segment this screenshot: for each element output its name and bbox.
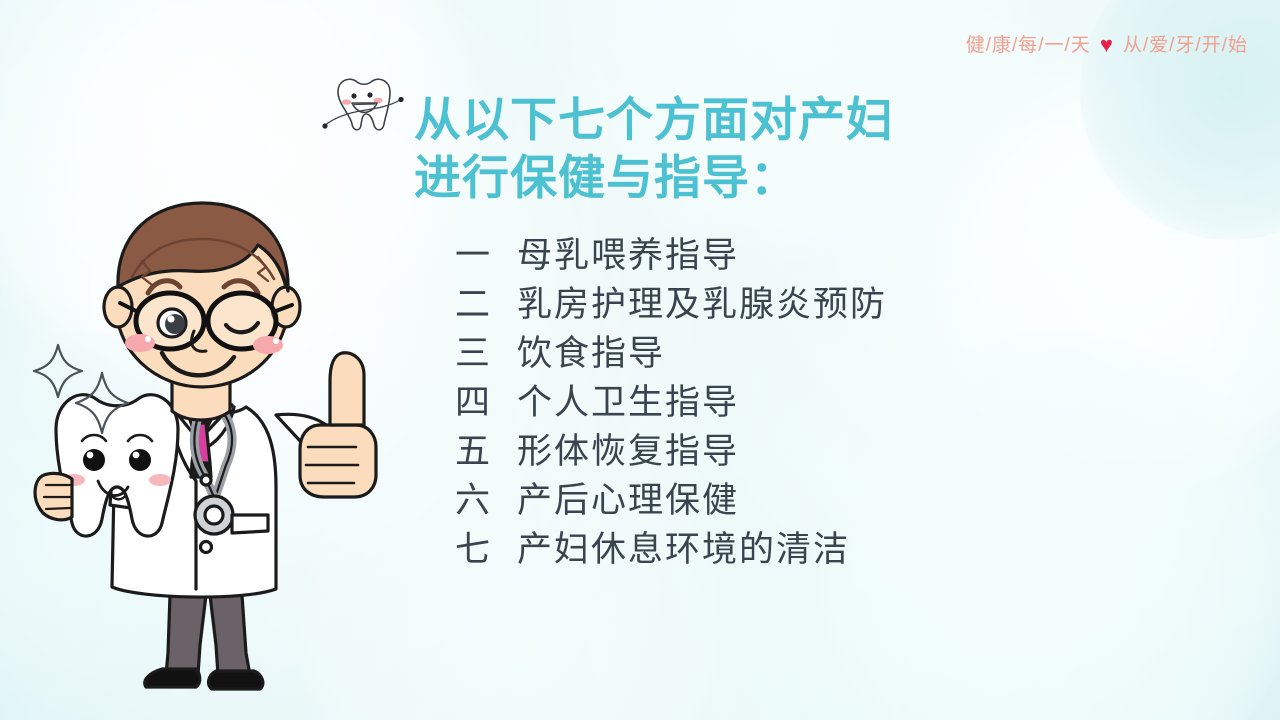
dentist-illustration <box>20 175 400 695</box>
list-item: 二 乳房护理及乳腺炎预防 <box>455 281 887 330</box>
list-item-number: 四 <box>455 379 517 428</box>
list-item-label: 母乳喂养指导 <box>517 232 739 281</box>
mini-tooth-icon <box>316 70 412 150</box>
list-item-label: 乳房护理及乳腺炎预防 <box>517 281 887 330</box>
list-item: 五 形体恢复指导 <box>455 428 887 477</box>
list-item: 三 饮食指导 <box>455 330 887 379</box>
list-item: 六 产后心理保健 <box>455 477 887 526</box>
title-line-1: 从以下七个方面对产妇 <box>414 92 1054 150</box>
title-line-2: 进行保健与指导： <box>414 150 1054 208</box>
list-item-label: 产妇休息环境的清洁 <box>517 526 850 575</box>
tagline-right-text: 从/爱/牙/开/始 <box>1123 30 1248 57</box>
topic-list: 一 母乳喂养指导 二 乳房护理及乳腺炎预防 三 饮食指导 四 个人卫生指导 五 … <box>455 232 887 575</box>
list-item-label: 饮食指导 <box>517 330 665 379</box>
list-item: 七 产妇休息环境的清洁 <box>455 526 887 575</box>
slide-canvas: 健/康/每/一/天 ♥ 从/爱/牙/开/始 从以下七个方面对产妇 进行保健与指导… <box>0 0 1280 720</box>
list-item-label: 产后心理保健 <box>517 477 739 526</box>
list-item-number: 五 <box>455 428 517 477</box>
list-item-label: 形体恢复指导 <box>517 428 739 477</box>
list-item-number: 一 <box>455 232 517 281</box>
header-tagline: 健/康/每/一/天 ♥ 从/爱/牙/开/始 <box>966 30 1248 57</box>
list-item: 四 个人卫生指导 <box>455 379 887 428</box>
background-bubble <box>820 330 1280 720</box>
list-item-number: 二 <box>455 281 517 330</box>
heart-icon: ♥ <box>1100 34 1114 56</box>
list-item-number: 六 <box>455 477 517 526</box>
page-title: 从以下七个方面对产妇 进行保健与指导： <box>414 92 1054 208</box>
list-item-label: 个人卫生指导 <box>517 379 739 428</box>
tagline-left-text: 健/康/每/一/天 <box>966 30 1091 57</box>
list-item-number: 三 <box>455 330 517 379</box>
list-item: 一 母乳喂养指导 <box>455 232 887 281</box>
list-item-number: 七 <box>455 526 517 575</box>
